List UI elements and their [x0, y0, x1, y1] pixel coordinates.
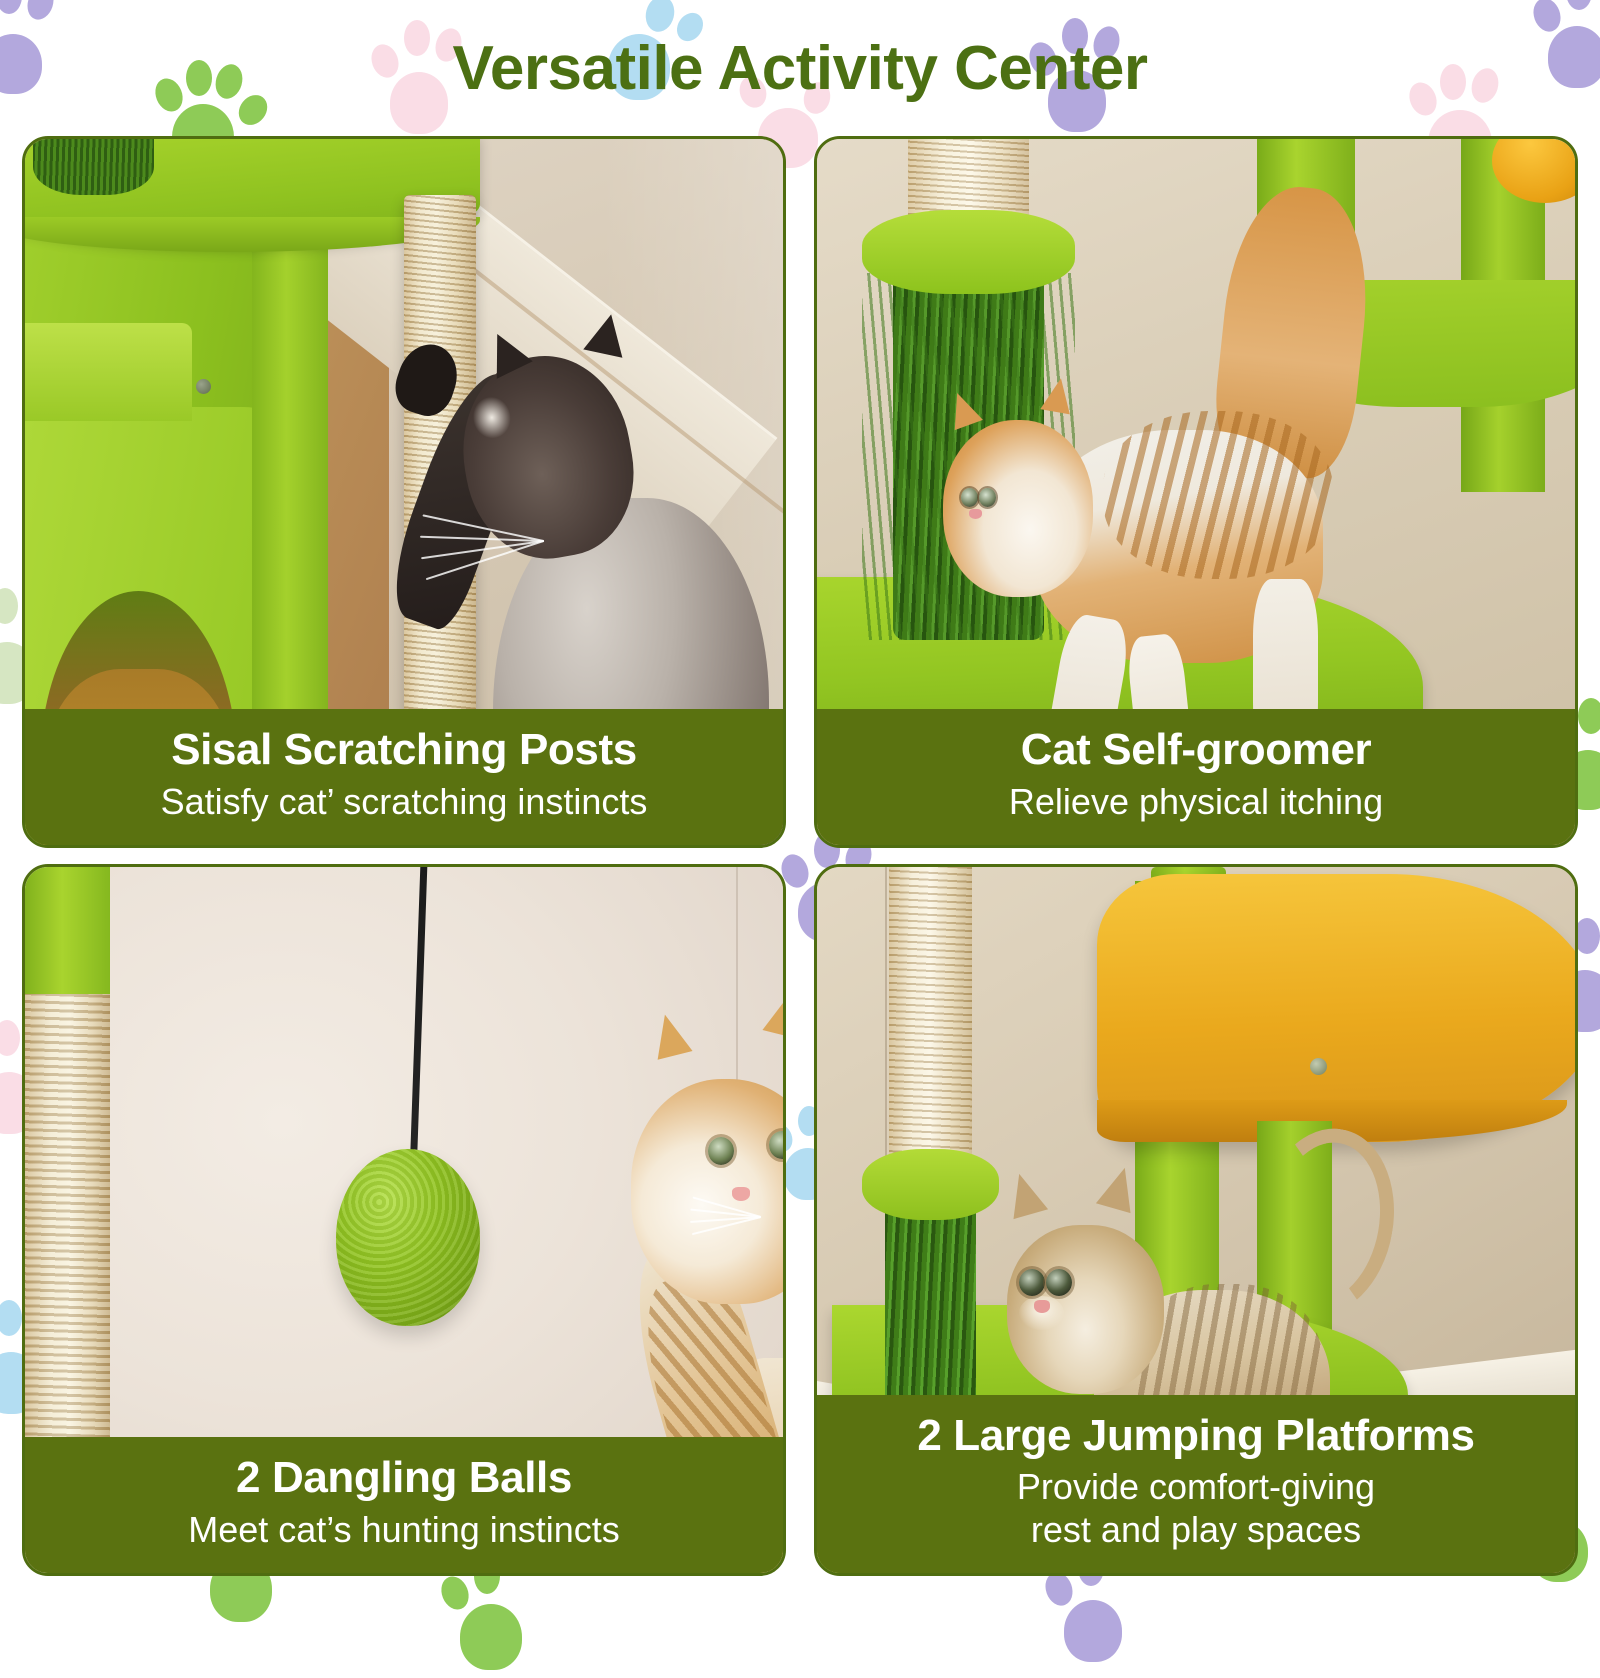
page-title: Versatile Activity Center: [452, 33, 1147, 104]
caption-subtitle: Meet cat’s hunting instincts: [43, 1509, 765, 1551]
caption-title: Sisal Scratching Posts: [43, 725, 765, 774]
feature-card-sisal-scratching-posts[interactable]: Sisal Scratching Posts Satisfy cat’ scra…: [22, 136, 786, 848]
caption-cat-self-groomer: Cat Self-groomer Relieve physical itchin…: [817, 709, 1575, 845]
caption-title: 2 Dangling Balls: [43, 1453, 765, 1502]
caption-subtitle-line-1: Provide comfort-giving: [835, 1466, 1557, 1508]
caption-jumping-platforms: 2 Large Jumping Platforms Provide comfor…: [817, 1395, 1575, 1573]
platform-screw: [1310, 1058, 1327, 1075]
caption-sisal-scratching-posts: Sisal Scratching Posts Satisfy cat’ scra…: [25, 709, 783, 845]
page-header: Versatile Activity Center: [0, 18, 1600, 118]
sisal-scratching-post: [889, 867, 972, 1178]
caption-subtitle-line-2: rest and play spaces: [835, 1509, 1557, 1551]
feature-card-jumping-platforms[interactable]: 2 Large Jumping Platforms Provide comfor…: [814, 864, 1578, 1576]
platform-screw: [196, 379, 211, 394]
caption-dangling-balls: 2 Dangling Balls Meet cat’s hunting inst…: [25, 1437, 783, 1573]
caption-title: 2 Large Jumping Platforms: [835, 1411, 1557, 1460]
caption-subtitle: Satisfy cat’ scratching instincts: [43, 781, 765, 823]
feature-card-cat-self-groomer[interactable]: Cat Self-groomer Relieve physical itchin…: [814, 136, 1578, 848]
feature-card-dangling-balls[interactable]: 2 Dangling Balls Meet cat’s hunting inst…: [22, 864, 786, 1576]
dangling-ball-toy: [336, 1149, 480, 1326]
feature-grid: Sisal Scratching Posts Satisfy cat’ scra…: [22, 136, 1578, 1576]
caption-subtitle: Relieve physical itching: [835, 781, 1557, 823]
caption-title: Cat Self-groomer: [835, 725, 1557, 774]
orange-tabby-cat: [923, 308, 1423, 774]
